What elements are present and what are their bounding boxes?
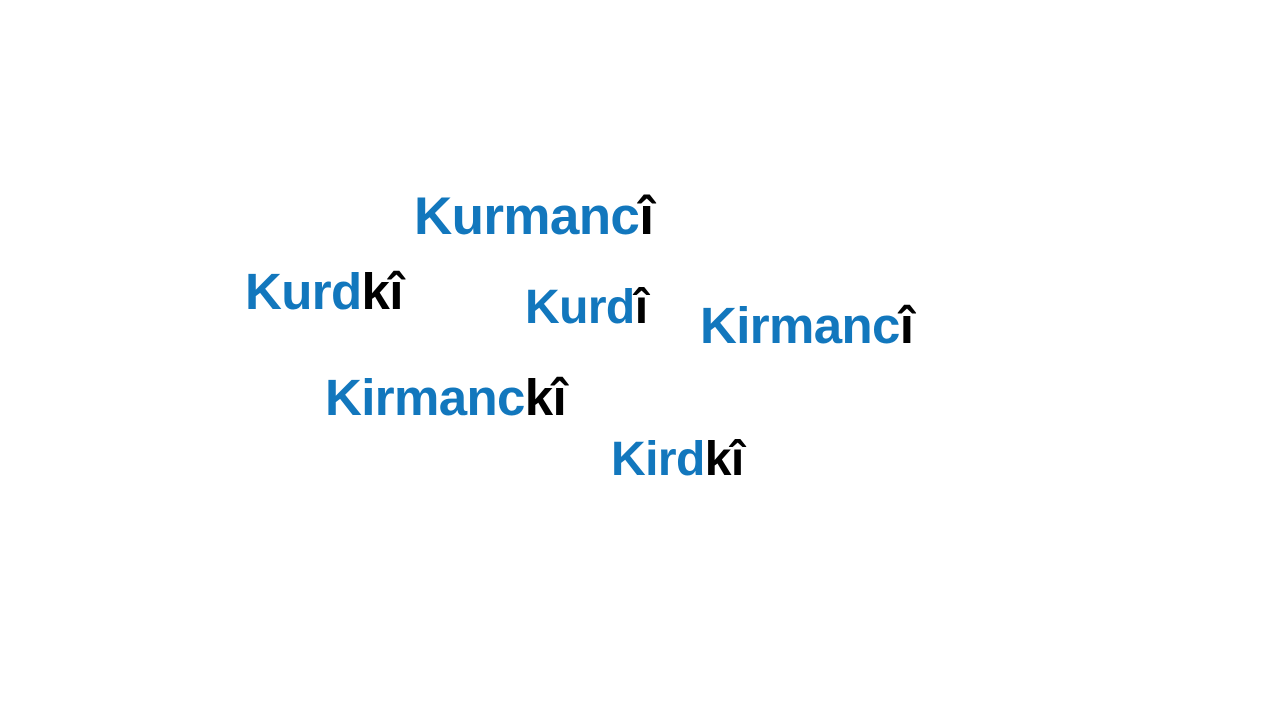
word-suffix-kirmanci: î xyxy=(900,297,914,354)
word-suffix-kirdki: kî xyxy=(705,433,744,486)
cloud-word-kurmanci: Kurmancî xyxy=(414,190,653,243)
word-stem-kurmanci: Kurmanc xyxy=(414,187,639,246)
wordcloud-canvas: Kurmancî Kurdkî Kurdî Kirmancî Kirmanckî… xyxy=(0,0,1280,720)
word-stem-kirmanci: Kirmanc xyxy=(700,297,900,354)
word-suffix-kurmanci: î xyxy=(639,187,653,246)
cloud-word-kirmanci: Kirmancî xyxy=(700,300,913,351)
word-stem-kirmancki: Kirmanc xyxy=(325,369,525,426)
word-suffix-kirmancki: kî xyxy=(525,369,566,426)
word-stem-kurdi: Kurd xyxy=(525,281,635,334)
word-suffix-kurdi: î xyxy=(635,281,648,334)
cloud-word-kirdki: Kirdkî xyxy=(611,436,744,484)
word-stem-kirdki: Kird xyxy=(611,433,705,486)
word-suffix-kurdki: kî xyxy=(362,263,403,320)
cloud-word-kurdi: Kurdî xyxy=(525,284,647,332)
cloud-word-kirmancki: Kirmanckî xyxy=(325,372,566,423)
word-stem-kurdki: Kurd xyxy=(245,263,362,320)
cloud-word-kurdki: Kurdkî xyxy=(245,266,403,317)
